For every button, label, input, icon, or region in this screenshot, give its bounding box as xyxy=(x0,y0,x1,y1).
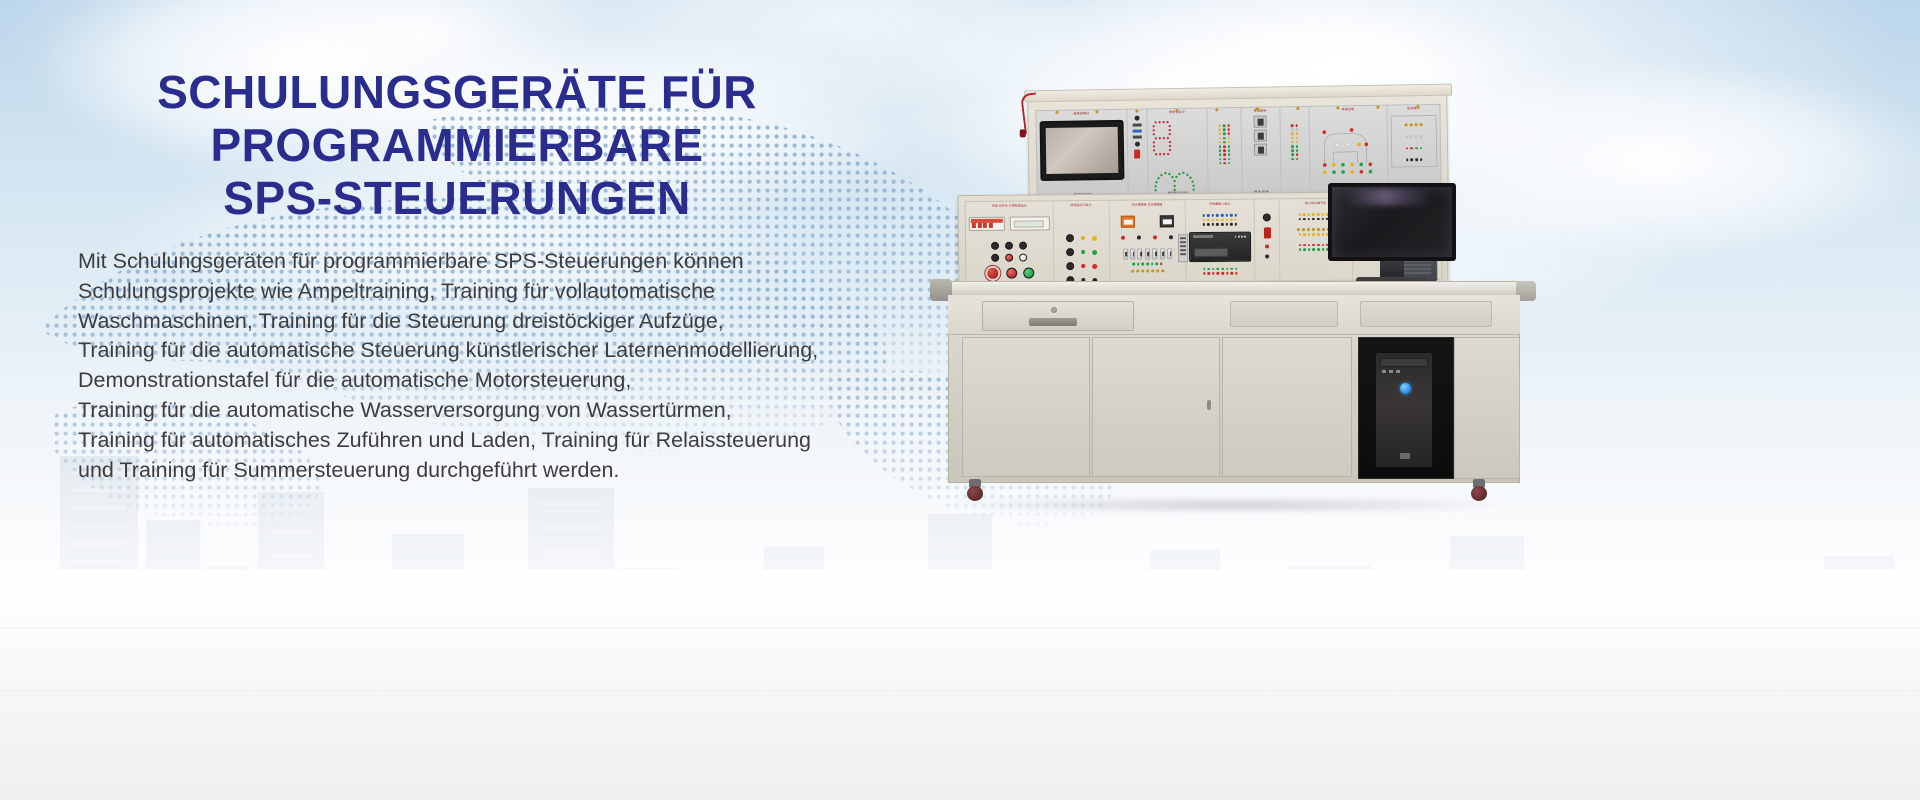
relay-unit[interactable] xyxy=(1254,116,1267,128)
module-title: 交流接触器 交流接触器 xyxy=(1109,202,1185,207)
led-column xyxy=(1291,124,1294,160)
cabinet-door[interactable] xyxy=(962,337,1090,477)
plc-cpu-module[interactable] xyxy=(1189,231,1251,262)
bench-blank-panel xyxy=(1230,301,1338,327)
selector-switch[interactable] xyxy=(1066,262,1074,270)
bench-drawer[interactable] xyxy=(982,301,1134,331)
seven-segment-module: 数码管显示 xyxy=(1147,108,1209,195)
description-line: Demonstrationstafel für die automatische… xyxy=(78,366,958,396)
door-handle[interactable] xyxy=(1207,400,1211,410)
module-title: 电源 总开关 三相电源指示 xyxy=(966,203,1053,208)
pc-bay xyxy=(1358,337,1454,479)
stop-button[interactable] xyxy=(1006,268,1017,279)
voltage-meter xyxy=(1009,216,1049,230)
description-line: Mit Schulungsgeräten für programmierbare… xyxy=(78,247,958,277)
terminal-strip xyxy=(1391,115,1438,168)
description-line: Training für die automatische Wasservers… xyxy=(78,396,958,426)
process-mimic-diagram xyxy=(1313,117,1388,180)
toggle-switch[interactable] xyxy=(1145,248,1150,259)
push-button[interactable] xyxy=(991,242,999,250)
front-ports[interactable] xyxy=(1382,370,1400,373)
led-column xyxy=(1295,124,1298,160)
selector-knob[interactable] xyxy=(1134,116,1139,121)
hmi-screen xyxy=(1046,127,1119,174)
din-rail xyxy=(1178,234,1188,262)
relay-unit[interactable] xyxy=(1254,130,1267,142)
description-line: Waschmaschinen, Training für die Steueru… xyxy=(78,307,958,337)
led-column xyxy=(1223,124,1226,164)
toggle-switch[interactable] xyxy=(1123,249,1128,260)
drawer-pull-handle[interactable] xyxy=(1029,318,1077,326)
headline-line-2: PROGRAMMIERBARE xyxy=(92,119,822,172)
lcd-monitor[interactable] xyxy=(1328,183,1456,287)
hmi-side-controls xyxy=(1127,109,1148,195)
plc-training-workbench: 触摸屏模块 触摸屏实训区 数码管显示 xyxy=(930,75,1550,515)
optical-drive[interactable] xyxy=(1380,358,1428,367)
port-slot xyxy=(1133,130,1142,133)
push-button[interactable] xyxy=(1019,242,1027,250)
toggle-switch[interactable] xyxy=(1130,249,1135,260)
headline-line-1: SCHULUNGSGERÄTE FÜR xyxy=(92,66,822,119)
desktop-tower[interactable] xyxy=(1375,352,1433,468)
power-button-icon[interactable] xyxy=(1400,383,1411,394)
led-column xyxy=(1228,124,1231,164)
monitor-screen[interactable] xyxy=(1328,183,1456,261)
page-title: SCHULUNGSGERÄTE FÜR PROGRAMMIERBARE SPS-… xyxy=(92,66,822,225)
toggle-switch[interactable] xyxy=(1160,248,1165,259)
port-slot xyxy=(1133,136,1142,139)
screen-glare xyxy=(1346,189,1432,205)
panel-top-cap xyxy=(1024,84,1452,103)
push-button[interactable] xyxy=(992,254,1000,262)
bench-side-column xyxy=(1454,337,1520,479)
start-button[interactable] xyxy=(1023,267,1034,278)
led-indicator-bank xyxy=(1208,108,1243,195)
seven-segment-display xyxy=(1150,119,1173,159)
selector-switch[interactable] xyxy=(1066,234,1074,242)
cabinet-door[interactable] xyxy=(1222,337,1352,477)
equipment-shadow xyxy=(950,497,1520,513)
power-switch[interactable] xyxy=(1134,150,1140,159)
power-supply-module: 电源 总开关 三相电源指示 xyxy=(966,201,1055,283)
terminal-block-module: 接线端子 接线端子排 xyxy=(1387,105,1440,192)
led-column-group xyxy=(1283,124,1306,160)
description-line: Schulungsprojekte wie Ampeltraining, Tra… xyxy=(78,277,958,307)
indicator-lamp-module: 按钮指示灯单元 xyxy=(1054,201,1110,282)
module-title: 按钮指示灯单元 xyxy=(1054,202,1109,206)
rocker-switch[interactable] xyxy=(1263,227,1270,238)
push-button[interactable] xyxy=(1005,242,1013,250)
description-line: Training für die automatische Steuerung … xyxy=(78,336,958,366)
pc-brand-logo xyxy=(1400,453,1410,459)
auxiliary-controls xyxy=(1255,199,1281,280)
hmi-module: 触摸屏模块 触摸屏实训区 xyxy=(1036,110,1128,197)
ladder-diagram-module: 电梯控制 xyxy=(1309,106,1388,193)
hmi-touchscreen[interactable] xyxy=(1040,120,1125,181)
drawer-lock-icon[interactable] xyxy=(1051,307,1057,313)
selector-switch[interactable] xyxy=(1066,248,1074,256)
io-terminal-module: 开关量输入单元 xyxy=(1186,200,1256,282)
toggle-switch[interactable] xyxy=(1137,249,1142,260)
push-button[interactable] xyxy=(1006,254,1014,262)
indicator-grid-module xyxy=(1280,107,1311,193)
led-column-group xyxy=(1211,124,1238,165)
description-line: und Training für Summersteuerung durchge… xyxy=(78,456,958,486)
description-line: Training für automatisches Zuführen und … xyxy=(78,426,958,456)
cabinet-door[interactable] xyxy=(1092,337,1220,477)
description-paragraph: Mit Schulungsgeräten für programmierbare… xyxy=(78,247,958,485)
toggle-switch[interactable] xyxy=(1167,248,1172,259)
led-column xyxy=(1218,124,1221,164)
toggle-switch[interactable] xyxy=(1152,248,1157,259)
headline-line-3: SPS-STEUERUNGEN xyxy=(92,172,822,225)
emergency-stop-button[interactable] xyxy=(985,266,1000,281)
contactor-module: 交流接触器 交流接触器 xyxy=(1109,200,1186,282)
elevator-control-module: 继电器组 继 电 器 组 xyxy=(1241,107,1281,194)
hero-banner: SCHULUNGSGERÄTE FÜR PROGRAMMIERBARE SPS-… xyxy=(0,0,1920,800)
floor-texture xyxy=(0,570,1920,800)
rotary-knob[interactable] xyxy=(1263,213,1271,221)
plc-unit-wrap xyxy=(1189,231,1251,262)
cable-plug xyxy=(1020,129,1026,137)
module-title: 开关量输入单元 xyxy=(1186,201,1254,206)
ac-contactor[interactable] xyxy=(1159,215,1173,227)
push-button[interactable] xyxy=(1020,254,1028,262)
relay-unit[interactable] xyxy=(1254,144,1267,156)
ac-contactor[interactable] xyxy=(1121,216,1135,228)
control-knob[interactable] xyxy=(1135,142,1140,147)
port-slot xyxy=(1133,124,1142,127)
bench-blank-panel xyxy=(1360,301,1492,327)
hero-copy: SCHULUNGSGERÄTE FÜR PROGRAMMIERBARE SPS-… xyxy=(78,66,978,485)
